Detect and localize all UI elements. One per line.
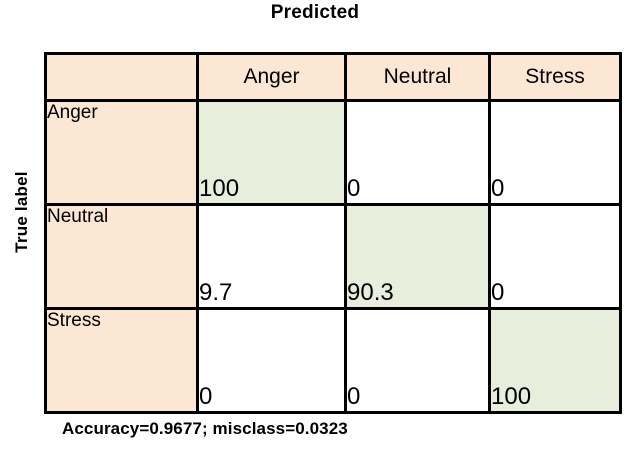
table-row: Anger 100 0 0 bbox=[46, 101, 621, 205]
cell-anger-neutral: 0 bbox=[346, 101, 490, 205]
row-header-anger: Anger bbox=[46, 101, 198, 205]
true-label-axis-title: True label bbox=[12, 142, 32, 282]
confusion-matrix-table: Anger Neutral Stress Anger 100 0 0 Neutr… bbox=[44, 52, 622, 414]
cell-neutral-anger: 9.7 bbox=[198, 205, 346, 309]
cell-stress-neutral: 0 bbox=[346, 309, 490, 413]
table-row: Neutral 9.7 90.3 0 bbox=[46, 205, 621, 309]
row-header-neutral: Neutral bbox=[46, 205, 198, 309]
column-header-neutral: Neutral bbox=[346, 54, 490, 101]
cell-stress-stress: 100 bbox=[490, 309, 621, 413]
matrix-corner-cell bbox=[46, 54, 198, 101]
matrix-header-row: Anger Neutral Stress bbox=[46, 54, 621, 101]
cell-anger-stress: 0 bbox=[490, 101, 621, 205]
predicted-axis-title: Predicted bbox=[0, 2, 630, 24]
accuracy-caption: Accuracy=0.9677; misclass=0.0323 bbox=[62, 419, 348, 439]
column-header-anger: Anger bbox=[198, 54, 346, 101]
cell-stress-anger: 0 bbox=[198, 309, 346, 413]
column-header-stress: Stress bbox=[490, 54, 621, 101]
cell-neutral-neutral: 90.3 bbox=[346, 205, 490, 309]
table-row: Stress 0 0 100 bbox=[46, 309, 621, 413]
row-header-stress: Stress bbox=[46, 309, 198, 413]
cell-neutral-stress: 0 bbox=[490, 205, 621, 309]
cell-anger-anger: 100 bbox=[198, 101, 346, 205]
